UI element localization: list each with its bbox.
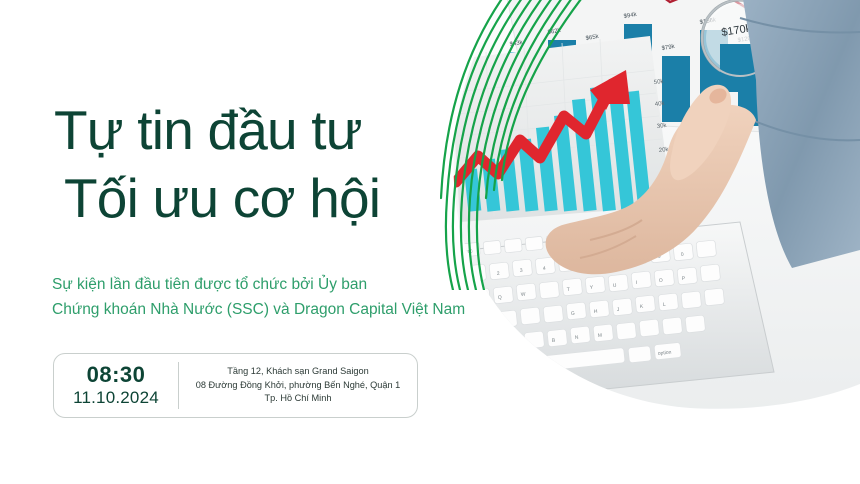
svg-text:1: 1 — [474, 273, 478, 279]
svg-text:40k: 40k — [655, 101, 666, 108]
subtitle-line-2: Chứng khoán Nhà Nước (SSC) và Dragon Cap… — [52, 297, 472, 322]
svg-text:T: T — [567, 287, 571, 293]
event-date: 11.10.2024 — [73, 387, 159, 408]
address-line-1: Tầng 12, Khách sạn Grand Saigon — [227, 365, 368, 379]
subtitle-line-1: Sự kiện lần đầu tiên được tổ chức bởi Ủy… — [52, 272, 472, 297]
event-info-capsule: 08:30 11.10.2024 Tầng 12, Khách sạn Gran… — [53, 353, 418, 418]
headline-line-2: Tối ưu cơ hội — [54, 164, 474, 232]
address-line-3: Tp. Hồ Chí Minh — [265, 392, 332, 406]
photo-collage-svg: $43k $62k $65k $94k $79k $156k $120k $16… — [440, 0, 860, 484]
event-time: 08:30 — [87, 363, 146, 387]
photo-collage: $43k $62k $65k $94k $79k $156k $120k $16… — [440, 0, 860, 484]
svg-text:50k: 50k — [654, 79, 665, 86]
svg-text:O: O — [659, 278, 664, 284]
headline-line-1: Tự tin đầu tư — [54, 96, 474, 164]
event-banner: $43k $62k $65k $94k $79k $156k $120k $16… — [0, 0, 860, 484]
event-datetime-block: 08:30 11.10.2024 — [54, 354, 178, 417]
svg-text:Q: Q — [498, 295, 503, 301]
bar-chart-sheet-arrow: 50k 40k 30k 20k — [450, 36, 672, 222]
svg-text:M: M — [598, 333, 603, 339]
svg-text:G: G — [571, 311, 576, 317]
svg-text:W: W — [521, 291, 527, 297]
event-address-block: Tầng 12, Khách sạn Grand Saigon 08 Đường… — [179, 354, 417, 417]
svg-text:30k: 30k — [657, 123, 668, 130]
address-line-2: 08 Đường Đồng Khởi, phường Bến Nghé, Quậ… — [196, 379, 401, 393]
subtitle: Sự kiện lần đầu tiên được tổ chức bởi Ủy… — [52, 272, 472, 322]
page-title: Tự tin đầu tư Tối ưu cơ hội — [54, 96, 474, 232]
